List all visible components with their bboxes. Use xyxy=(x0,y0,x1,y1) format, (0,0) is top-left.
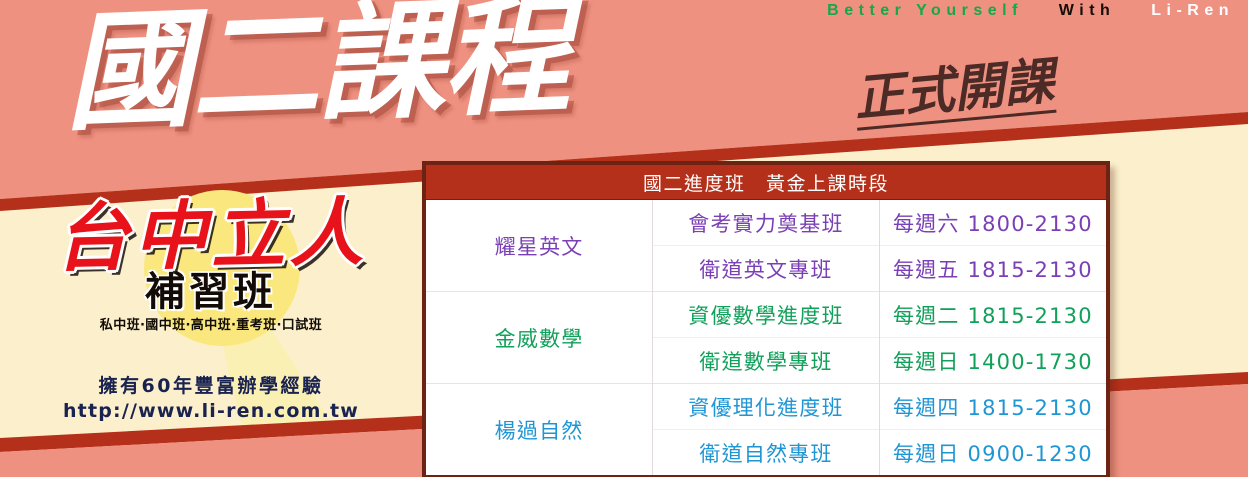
time-cell: 每週五 1815-2130 xyxy=(879,246,1106,292)
brand-logo: 台中立人 補習班 私中班‧國中班‧高中班‧重考班‧口試班 xyxy=(26,196,396,334)
promo-banner: Better Yourself With Li-Ren 國二課程 正式開課 台中… xyxy=(0,0,1248,477)
brand-class-types: 私中班‧國中班‧高中班‧重考班‧口試班 xyxy=(26,317,396,334)
tagline-part-better: Better Yourself xyxy=(827,2,1023,19)
tagline: Better Yourself With Li-Ren xyxy=(827,1,1234,21)
brand-info: 擁有60年豐富辦學經驗 http://www.li-ren.com.tw xyxy=(26,374,396,424)
website-url[interactable]: http://www.li-ren.com.tw xyxy=(26,399,396,424)
schedule-header-row: 國二進度班 黃金上課時段 xyxy=(426,165,1106,200)
schedule-head: 國二進度班 黃金上課時段 xyxy=(426,165,1106,200)
course-cell: 資優數學進度班 xyxy=(653,292,880,338)
course-cell: 衛道自然專班 xyxy=(653,430,880,476)
subject-cell: 耀星英文 xyxy=(426,200,653,292)
subject-cell: 金威數學 xyxy=(426,292,653,384)
table-row[interactable]: 金威數學 資優數學進度班 每週二 1815-2130 xyxy=(426,292,1106,338)
brand-name: 台中立人 xyxy=(25,192,397,280)
schedule-table: 國二進度班 黃金上課時段 耀星英文 會考實力奠基班 每週六 1800-2130 … xyxy=(422,161,1110,477)
schedule-grid: 國二進度班 黃金上課時段 耀星英文 會考實力奠基班 每週六 1800-2130 … xyxy=(426,165,1106,475)
schedule-body: 耀星英文 會考實力奠基班 每週六 1800-2130 衛道英文專班 每週五 18… xyxy=(426,200,1106,476)
table-row[interactable]: 耀星英文 會考實力奠基班 每週六 1800-2130 xyxy=(426,200,1106,246)
schedule-title: 國二進度班 黃金上課時段 xyxy=(426,165,1106,200)
page-title: 國二課程 xyxy=(62,0,571,144)
time-cell: 每週日 1400-1730 xyxy=(879,338,1106,384)
experience-text: 擁有60年豐富辦學經驗 xyxy=(26,374,396,399)
tagline-part-with: With xyxy=(1059,2,1116,19)
subject-cell: 楊過自然 xyxy=(426,384,653,476)
page-subtitle: 正式開課 xyxy=(852,54,1057,131)
time-cell: 每週二 1815-2130 xyxy=(879,292,1106,338)
time-cell: 每週六 1800-2130 xyxy=(879,200,1106,246)
time-cell: 每週日 0900-1230 xyxy=(879,430,1106,476)
tagline-part-liren: Li-Ren xyxy=(1151,2,1234,19)
table-row[interactable]: 楊過自然 資優理化進度班 每週四 1815-2130 xyxy=(426,384,1106,430)
time-cell: 每週四 1815-2130 xyxy=(879,384,1106,430)
course-cell: 衛道數學專班 xyxy=(653,338,880,384)
course-cell: 衛道英文專班 xyxy=(653,246,880,292)
course-cell: 會考實力奠基班 xyxy=(653,200,880,246)
course-cell: 資優理化進度班 xyxy=(653,384,880,430)
